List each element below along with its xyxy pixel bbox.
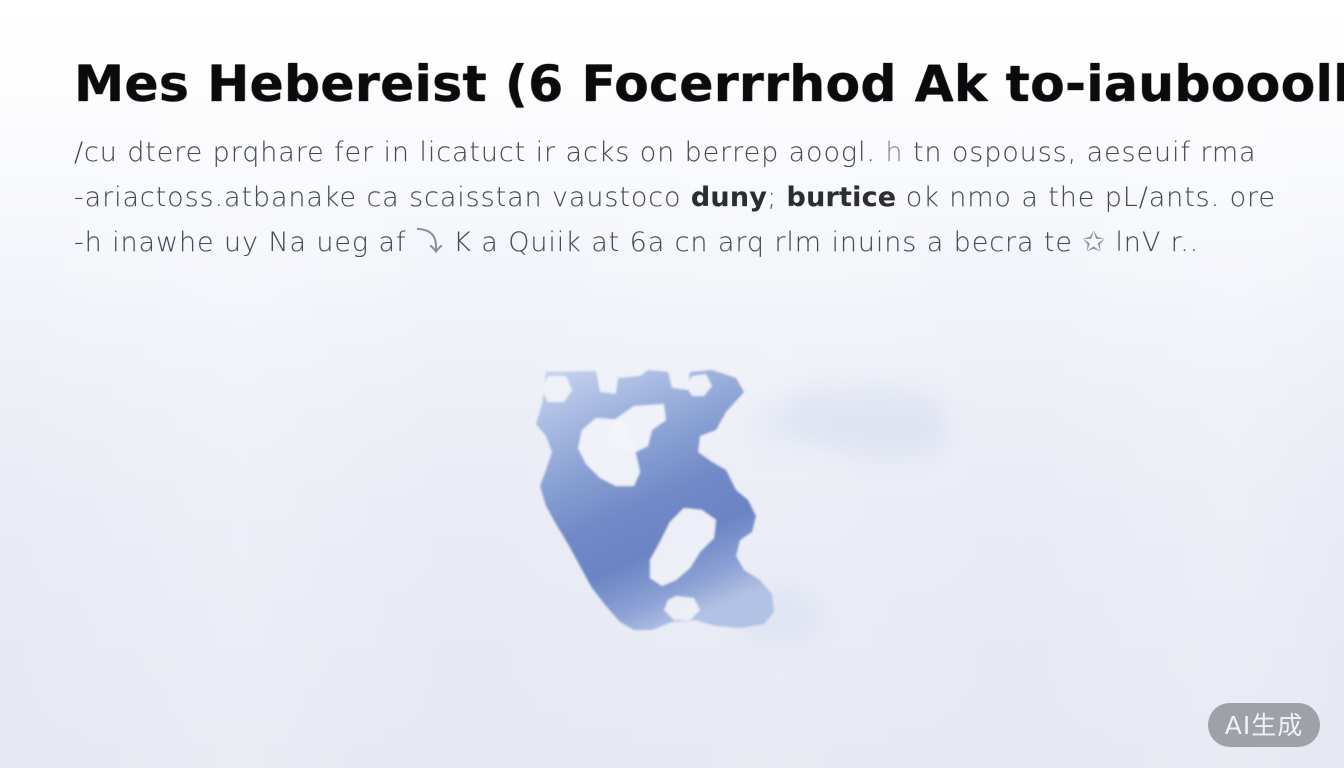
body-line-3: -h inawhe uy Na ueg af ⤵ K a Quiik at 6a… [74, 220, 1304, 265]
body-text-run: /cu dtere prqhare fer in licatuct ir ack… [74, 137, 885, 168]
body-text-run: duny [691, 182, 767, 213]
page-title: Mes Hebereist (6 Focerrrhod Ak to-iauboo… [74, 52, 1310, 116]
body-text-run: -h inawhe uy Na ueg af [74, 227, 416, 258]
body-text-run: lnV r.. [1106, 227, 1199, 258]
text-content-block: Mes Hebereist (6 Focerrrhod Ak to-iauboo… [74, 52, 1304, 265]
body-text-run: -ariactoss.atbanake ca scaisstan vaustoc… [74, 182, 691, 213]
ai-generated-watermark-badge: AI生成 [1208, 703, 1320, 747]
body-text-run: burtice [787, 182, 897, 213]
ai-generated-watermark-label: AI生成 [1225, 713, 1303, 738]
body-text-run: h [885, 137, 903, 168]
body-line-1: /cu dtere prqhare fer in licatuct ir ack… [74, 130, 1304, 175]
body-text-run: ✩ [1082, 227, 1106, 258]
body-text-run: ; [767, 182, 786, 213]
body-text-run: tn ospouss, aeseuif rma [903, 137, 1256, 168]
body-text-run: ⤵ [416, 227, 444, 258]
body-text-run: K a Quiik at 6a cn arq rlm inuins a becr… [444, 227, 1083, 258]
slide-canvas: Mes Hebereist (6 Focerrrhod Ak to-iauboo… [0, 0, 1344, 768]
body-text-run: ok nmo a the pL/ants. ore [896, 182, 1276, 213]
body-line-2: -ariactoss.atbanake ca scaisstan vaustoc… [74, 175, 1304, 220]
north-america-shape [536, 370, 774, 630]
